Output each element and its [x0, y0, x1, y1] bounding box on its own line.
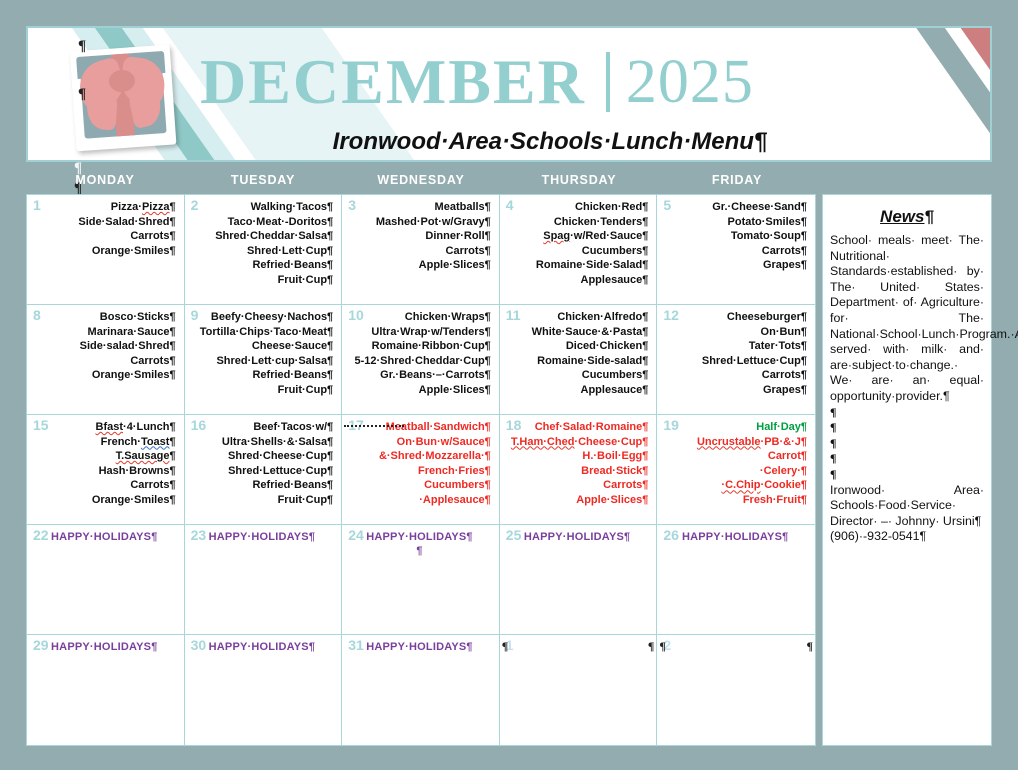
- day-number: 11: [506, 308, 521, 322]
- header-banner: DECEMBER 2025 Ironwood·Area·Schools·Lunc…: [26, 26, 992, 162]
- menu-item: Bosco·Sticks¶: [31, 310, 176, 325]
- day-number: 26: [663, 528, 679, 542]
- menu-item: H.·Boil·Egg¶: [504, 449, 649, 464]
- menu-item-list: Beefy·Cheesy·Nachos¶Tortilla·Chips·Taco·…: [189, 310, 336, 398]
- menu-item: Shred·Lett·cup·Salsa¶: [189, 354, 334, 369]
- menu-item-list: Chicken·Red¶Chicken·Tenders¶Spag·w/Red·S…: [504, 200, 651, 288]
- day-number: 3: [348, 198, 356, 212]
- menu-item: Mashed·Pot·w/Gravy¶: [346, 215, 491, 230]
- menu-item-list: Pizza·Pizza¶Side·Salad·Shred¶Carrots¶Ora…: [31, 200, 178, 258]
- paragraph-mark: ¶: [807, 639, 813, 654]
- menu-item: Romaine·Ribbon·Cup¶: [346, 339, 491, 354]
- calendar-day-cell[interactable]: 17Meatball·Sandwich¶On·Bun·w/Sauce¶&·Shr…: [342, 415, 500, 525]
- menu-item: Cucumbers¶: [504, 368, 649, 383]
- menu-item: ·Celery·¶: [661, 464, 807, 479]
- weekday-friday: FRIDAY: [658, 166, 816, 194]
- menu-item: Refried·Beans¶: [189, 478, 334, 493]
- decorative-stripe-red-right: [928, 26, 992, 162]
- weekday-wednesday: WEDNESDAY: [342, 166, 500, 194]
- calendar-grid: 1Pizza·Pizza¶Side·Salad·Shred¶Carrots¶Or…: [26, 194, 816, 746]
- menu-item: Carrots¶: [31, 229, 176, 244]
- holiday-note: HAPPY·HOLIDAYS¶: [189, 641, 336, 653]
- menu-item: Apple·Slices¶: [346, 258, 491, 273]
- revision-change-bar: [344, 425, 404, 427]
- day-number: 9: [191, 308, 199, 322]
- news-blank-line: ¶: [830, 451, 984, 467]
- menu-item-list: Beef·Tacos·w/¶Ultra·Shells·&·Salsa¶Shred…: [189, 420, 336, 508]
- paragraph-mark: ¶: [78, 38, 86, 55]
- menu-item: Cucumbers¶: [504, 244, 649, 259]
- menu-item: On·Bun·w/Sauce¶: [346, 435, 491, 450]
- day-number: 1: [33, 198, 41, 212]
- menu-item: Romaine·Side-salad¶: [504, 354, 649, 369]
- menu-item: Fruit·Cup¶: [189, 273, 334, 288]
- menu-item: Shred·Lettuce·Cup¶: [189, 464, 334, 479]
- menu-item-list: Walking·Tacos¶Taco·Meat·-Doritos¶Shred·C…: [189, 200, 336, 288]
- menu-item: Orange·Smiles¶: [31, 368, 176, 383]
- day-number: 2: [191, 198, 199, 212]
- menu-item: Half·Day¶: [661, 420, 807, 435]
- day-number: 24: [348, 528, 364, 542]
- calendar-day-cell[interactable]: 2¶¶: [657, 635, 815, 745]
- menu-item: ·Applesauce¶: [346, 493, 491, 508]
- day-number: 10: [348, 308, 364, 322]
- day-number: 18: [506, 418, 522, 432]
- holiday-note: HAPPY·HOLIDAYS¶: [189, 531, 336, 543]
- menu-item: Shred·Cheese·Cup¶: [189, 449, 334, 464]
- menu-item: Bread·Stick¶: [504, 464, 649, 479]
- menu-item: Chicken·Alfredo¶: [504, 310, 649, 325]
- menu-item: Chicken·Red¶: [504, 200, 649, 215]
- menu-item-list: Bosco·Sticks¶Marinara·Sauce¶Side·salad·S…: [31, 310, 178, 383]
- menu-item: Cheeseburger¶: [661, 310, 807, 325]
- menu-item: Dinner·Roll¶: [346, 229, 491, 244]
- calendar-day-cell[interactable]: 15Bfast·4·Lunch¶French·Toast¶T.Sausage¶H…: [27, 415, 185, 525]
- menu-subtitle: Ironwood·Area·Schools·Lunch·Menu¶: [200, 128, 900, 156]
- menu-item-list: Meatball·Sandwich¶On·Bun·w/Sauce¶&·Shred…: [346, 420, 493, 508]
- day-number: 31: [348, 638, 364, 652]
- menu-item: Tater·Tots¶: [661, 339, 807, 354]
- news-body-text: School· meals· meet· The· Nutritional· S…: [830, 233, 984, 405]
- menu-item: Side·salad·Shred¶: [31, 339, 176, 354]
- menu-item: Orange·Smiles¶: [31, 244, 176, 259]
- menu-item: 5-12·Shred·Cheddar·Cup¶: [346, 354, 491, 369]
- menu-item-list: Bfast·4·Lunch¶French·Toast¶T.Sausage¶Has…: [31, 420, 178, 508]
- menu-item: Meatball·Sandwich¶: [346, 420, 491, 435]
- day-number: 12: [663, 308, 679, 322]
- calendar-day-cell[interactable]: 16Beef·Tacos·w/¶Ultra·Shells·&·Salsa¶Shr…: [185, 415, 343, 525]
- decorative-stripe-white-right: [909, 26, 992, 162]
- weekday-tuesday: TUESDAY: [184, 166, 342, 194]
- calendar-day-cell[interactable]: 10Chicken·Wraps¶Ultra·Wrap·w/Tenders¶Rom…: [342, 305, 500, 415]
- menu-item: White·Sauce·&·Pasta¶: [504, 325, 649, 340]
- news-blank-line: ¶: [830, 405, 984, 421]
- menu-item-list: Chicken·Wraps¶Ultra·Wrap·w/Tenders¶Romai…: [346, 310, 493, 398]
- menu-item: Shred·Cheddar·Salsa¶: [189, 229, 334, 244]
- menu-item-list: Half·Day¶Uncrustable·PB·&·J¶Carrot¶·Cele…: [661, 420, 809, 508]
- calendar-day-cell[interactable]: 30HAPPY·HOLIDAYS¶: [185, 635, 343, 745]
- calendar-day-cell[interactable]: 24HAPPY·HOLIDAYS¶¶: [342, 525, 500, 635]
- menu-item: Tortilla·Chips·Taco·Meat¶: [189, 325, 334, 340]
- menu-item: Gr.·Beans·–·Carrots¶: [346, 368, 491, 383]
- calendar-day-cell[interactable]: 4Chicken·Red¶Chicken·Tenders¶Spag·w/Red·…: [500, 195, 658, 305]
- day-number: 29: [33, 638, 49, 652]
- day-number: 23: [191, 528, 207, 542]
- menu-item: Bfast·4·Lunch¶: [31, 420, 176, 435]
- menu-item: Apple·Slices¶: [346, 383, 491, 398]
- menu-item: Diced·Chicken¶: [504, 339, 649, 354]
- menu-item: French·Toast¶: [31, 435, 176, 450]
- menu-item: ·C.Chip·Cookie¶: [661, 478, 807, 493]
- menu-item: Ultra·Shells·&·Salsa¶: [189, 435, 334, 450]
- menu-item: Carrot¶: [661, 449, 807, 464]
- menu-item: Chef·Salad·Romaine¶: [504, 420, 649, 435]
- news-blank-line: ¶: [830, 467, 984, 483]
- calendar-day-cell[interactable]: 26HAPPY·HOLIDAYS¶: [657, 525, 815, 635]
- menu-item: Refried·Beans¶: [189, 258, 334, 273]
- day-number: 25: [506, 528, 522, 542]
- day-number: 30: [191, 638, 207, 652]
- menu-item: Carrots¶: [31, 354, 176, 369]
- menu-item: T.Ham·Ched·Cheese·Cup¶: [504, 435, 649, 450]
- calendar-day-cell[interactable]: 23HAPPY·HOLIDAYS¶: [185, 525, 343, 635]
- calendar-day-cell[interactable]: 11Chicken·Alfredo¶White·Sauce·&·Pasta¶Di…: [500, 305, 658, 415]
- calendar-page: DECEMBER 2025 Ironwood·Area·Schools·Lunc…: [0, 0, 1018, 770]
- day-number: 16: [191, 418, 207, 432]
- menu-item: Applesauce¶: [504, 383, 649, 398]
- menu-item: Taco·Meat·-Doritos¶: [189, 215, 334, 230]
- menu-item: Potato·Smiles¶: [661, 215, 807, 230]
- menu-item: Grapes¶: [661, 383, 807, 398]
- menu-item: Meatballs¶: [346, 200, 491, 215]
- paragraph-mark: ¶: [346, 545, 493, 557]
- menu-item: Tomato·Soup¶: [661, 229, 807, 244]
- menu-item: Spag·w/Red·Sauce¶: [504, 229, 649, 244]
- menu-item: Side·Salad·Shred¶: [31, 215, 176, 230]
- paragraph-mark: ¶: [502, 639, 508, 654]
- calendar-day-cell[interactable]: 2Walking·Tacos¶Taco·Meat·-Doritos¶Shred·…: [185, 195, 343, 305]
- menu-item: T.Sausage¶: [31, 449, 176, 464]
- menu-item: French·Fries¶: [346, 464, 491, 479]
- holiday-note: HAPPY·HOLIDAYS¶: [31, 531, 178, 543]
- menu-item: Chicken·Wraps¶: [346, 310, 491, 325]
- menu-item: Chicken·Tenders¶: [504, 215, 649, 230]
- day-number: 8: [33, 308, 41, 322]
- menu-item: Romaine·Side·Salad¶: [504, 258, 649, 273]
- news-blank-line: ¶: [830, 420, 984, 436]
- news-signature: Ironwood· Area· Schools·Food·Service· Di…: [830, 483, 984, 530]
- menu-item: Carrots¶: [661, 368, 807, 383]
- paragraph-mark: ¶: [78, 86, 86, 103]
- calendar-day-cell[interactable]: 22HAPPY·HOLIDAYS¶: [27, 525, 185, 635]
- menu-item: Pizza·Pizza¶: [31, 200, 176, 215]
- menu-item-list: Chicken·Alfredo¶White·Sauce·&·Pasta¶Dice…: [504, 310, 651, 398]
- menu-item-list: Chef·Salad·Romaine¶T.Ham·Ched·Cheese·Cup…: [504, 420, 651, 508]
- menu-item: Shred·Lettuce·Cup¶: [661, 354, 807, 369]
- news-heading: News¶: [830, 207, 984, 227]
- menu-item: &·Shred·Mozzarella·¶: [346, 449, 491, 464]
- menu-item: Marinara·Sauce¶: [31, 325, 176, 340]
- menu-item: Apple·Slices¶: [504, 493, 649, 508]
- news-phone: (906)·-932-0541¶: [830, 529, 984, 545]
- calendar-day-cell[interactable]: 8Bosco·Sticks¶Marinara·Sauce¶Side·salad·…: [27, 305, 185, 415]
- menu-item: Applesauce¶: [504, 273, 649, 288]
- day-number: 19: [663, 418, 679, 432]
- paragraph-mark: ¶: [648, 639, 654, 654]
- news-blank-line: ¶: [830, 436, 984, 452]
- day-number: 15: [33, 418, 49, 432]
- paragraph-mark: ¶: [924, 207, 933, 226]
- calendar-day-cell[interactable]: 25HAPPY·HOLIDAYS¶: [500, 525, 658, 635]
- calendar-day-cell[interactable]: 31HAPPY·HOLIDAYS¶: [342, 635, 500, 745]
- calendar-day-cell[interactable]: 1Pizza·Pizza¶Side·Salad·Shred¶Carrots¶Or…: [27, 195, 185, 305]
- weekday-header-row: MONDAY TUESDAY WEDNESDAY THURSDAY FRIDAY: [26, 166, 816, 194]
- menu-item: Beefy·Cheesy·Nachos¶: [189, 310, 334, 325]
- menu-item: Carrots¶: [31, 478, 176, 493]
- menu-item-list: Cheeseburger¶On·Bun¶Tater·Tots¶Shred·Let…: [661, 310, 809, 398]
- news-heading-text: News: [880, 207, 924, 226]
- menu-item: On·Bun¶: [661, 325, 807, 340]
- menu-item: Hash·Browns¶: [31, 464, 176, 479]
- menu-item: Grapes¶: [661, 258, 807, 273]
- holiday-note: HAPPY·HOLIDAYS¶: [346, 641, 493, 653]
- menu-item-list: Meatballs¶Mashed·Pot·w/Gravy¶Dinner·Roll…: [346, 200, 493, 273]
- title-divider: [606, 52, 610, 112]
- menu-item: Beef·Tacos·w/¶: [189, 420, 334, 435]
- day-number: 4: [506, 198, 514, 212]
- weekday-monday: MONDAY: [26, 166, 184, 194]
- holiday-note: HAPPY·HOLIDAYS¶: [346, 531, 493, 543]
- menu-item: Gr.·Cheese·Sand¶: [661, 200, 807, 215]
- calendar-day-cell[interactable]: 19Half·Day¶Uncrustable·PB·&·J¶Carrot¶·Ce…: [657, 415, 815, 525]
- calendar-day-cell[interactable]: 12Cheeseburger¶On·Bun¶Tater·Tots¶Shred·L…: [657, 305, 815, 415]
- holiday-note: HAPPY·HOLIDAYS¶: [504, 531, 651, 543]
- paragraph-mark: ¶: [659, 639, 665, 654]
- menu-item: Uncrustable·PB·&·J¶: [661, 435, 807, 450]
- menu-item: Fruit·Cup¶: [189, 493, 334, 508]
- calendar-day-cell[interactable]: 18Chef·Salad·Romaine¶T.Ham·Ched·Cheese·C…: [500, 415, 658, 525]
- calendar-day-cell[interactable]: 5Gr.·Cheese·Sand¶Potato·Smiles¶Tomato·So…: [657, 195, 815, 305]
- weekday-thursday: THURSDAY: [500, 166, 658, 194]
- menu-item: Carrots¶: [504, 478, 649, 493]
- news-panel: News¶ School· meals· meet· The· Nutritio…: [822, 194, 992, 746]
- calendar-day-cell[interactable]: 3Meatballs¶Mashed·Pot·w/Gravy¶Dinner·Rol…: [342, 195, 500, 305]
- year-label: 2025: [626, 51, 754, 113]
- menu-item: Cheese·Sauce¶: [189, 339, 334, 354]
- menu-item: Orange·Smiles¶: [31, 493, 176, 508]
- day-number: 5: [663, 198, 671, 212]
- day-number: 22: [33, 528, 49, 542]
- menu-item-list: Gr.·Cheese·Sand¶Potato·Smiles¶Tomato·Sou…: [661, 200, 809, 273]
- holiday-note: HAPPY·HOLIDAYS¶: [31, 641, 178, 653]
- menu-item: Fresh·Fruit¶: [661, 493, 807, 508]
- calendar-day-cell[interactable]: 1¶¶: [500, 635, 658, 745]
- decorative-stripe-blue-right: [885, 26, 992, 162]
- menu-item: Shred·Lett·Cup¶: [189, 244, 334, 259]
- menu-item: Carrots¶: [661, 244, 807, 259]
- menu-item: Refried·Beans¶: [189, 368, 334, 383]
- menu-item: Fruit·Cup¶: [189, 383, 334, 398]
- menu-item: Ultra·Wrap·w/Tenders¶: [346, 325, 491, 340]
- month-year-title: DECEMBER 2025: [200, 44, 890, 120]
- month-label: DECEMBER: [200, 50, 586, 114]
- menu-item: Carrots¶: [346, 244, 491, 259]
- holiday-note: HAPPY·HOLIDAYS¶: [661, 531, 809, 543]
- calendar-day-cell[interactable]: 29HAPPY·HOLIDAYS¶: [27, 635, 185, 745]
- menu-item: Walking·Tacos¶: [189, 200, 334, 215]
- menu-item: Cucumbers¶: [346, 478, 491, 493]
- calendar-day-cell[interactable]: 9Beefy·Cheesy·Nachos¶Tortilla·Chips·Taco…: [185, 305, 343, 415]
